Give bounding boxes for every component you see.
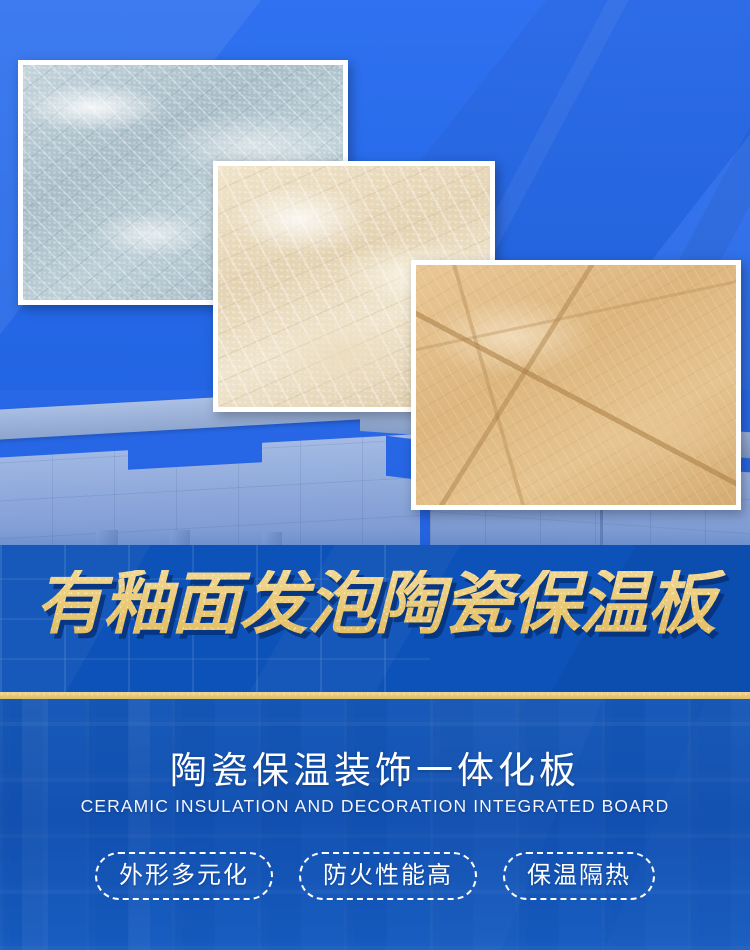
subtitle-english: CERAMIC INSULATION AND DECORATION INTEGR…: [0, 796, 750, 817]
gold-divider-rule: [0, 692, 750, 699]
feature-pill-list: 外形多元化 防火性能高 保温隔热: [0, 852, 750, 900]
main-title: 有釉面发泡陶瓷保温板: [0, 570, 750, 639]
sample-tile-tan-marble: [411, 260, 741, 510]
photo-blue-overlay-lower: [0, 699, 750, 950]
feature-pill-thermal-insulation[interactable]: 保温隔热: [503, 852, 655, 900]
tile-texture-tan: [416, 265, 736, 505]
building-photo-lower: [0, 699, 750, 950]
promo-banner: 有釉面发泡陶瓷保温板 陶瓷保温装饰一体化板 CERAMIC INSULATION…: [0, 0, 750, 950]
feature-pill-shape-diversity[interactable]: 外形多元化: [95, 852, 273, 900]
feature-pill-fire-resistance[interactable]: 防火性能高: [299, 852, 477, 900]
subtitle-chinese: 陶瓷保温装饰一体化板: [0, 740, 750, 794]
